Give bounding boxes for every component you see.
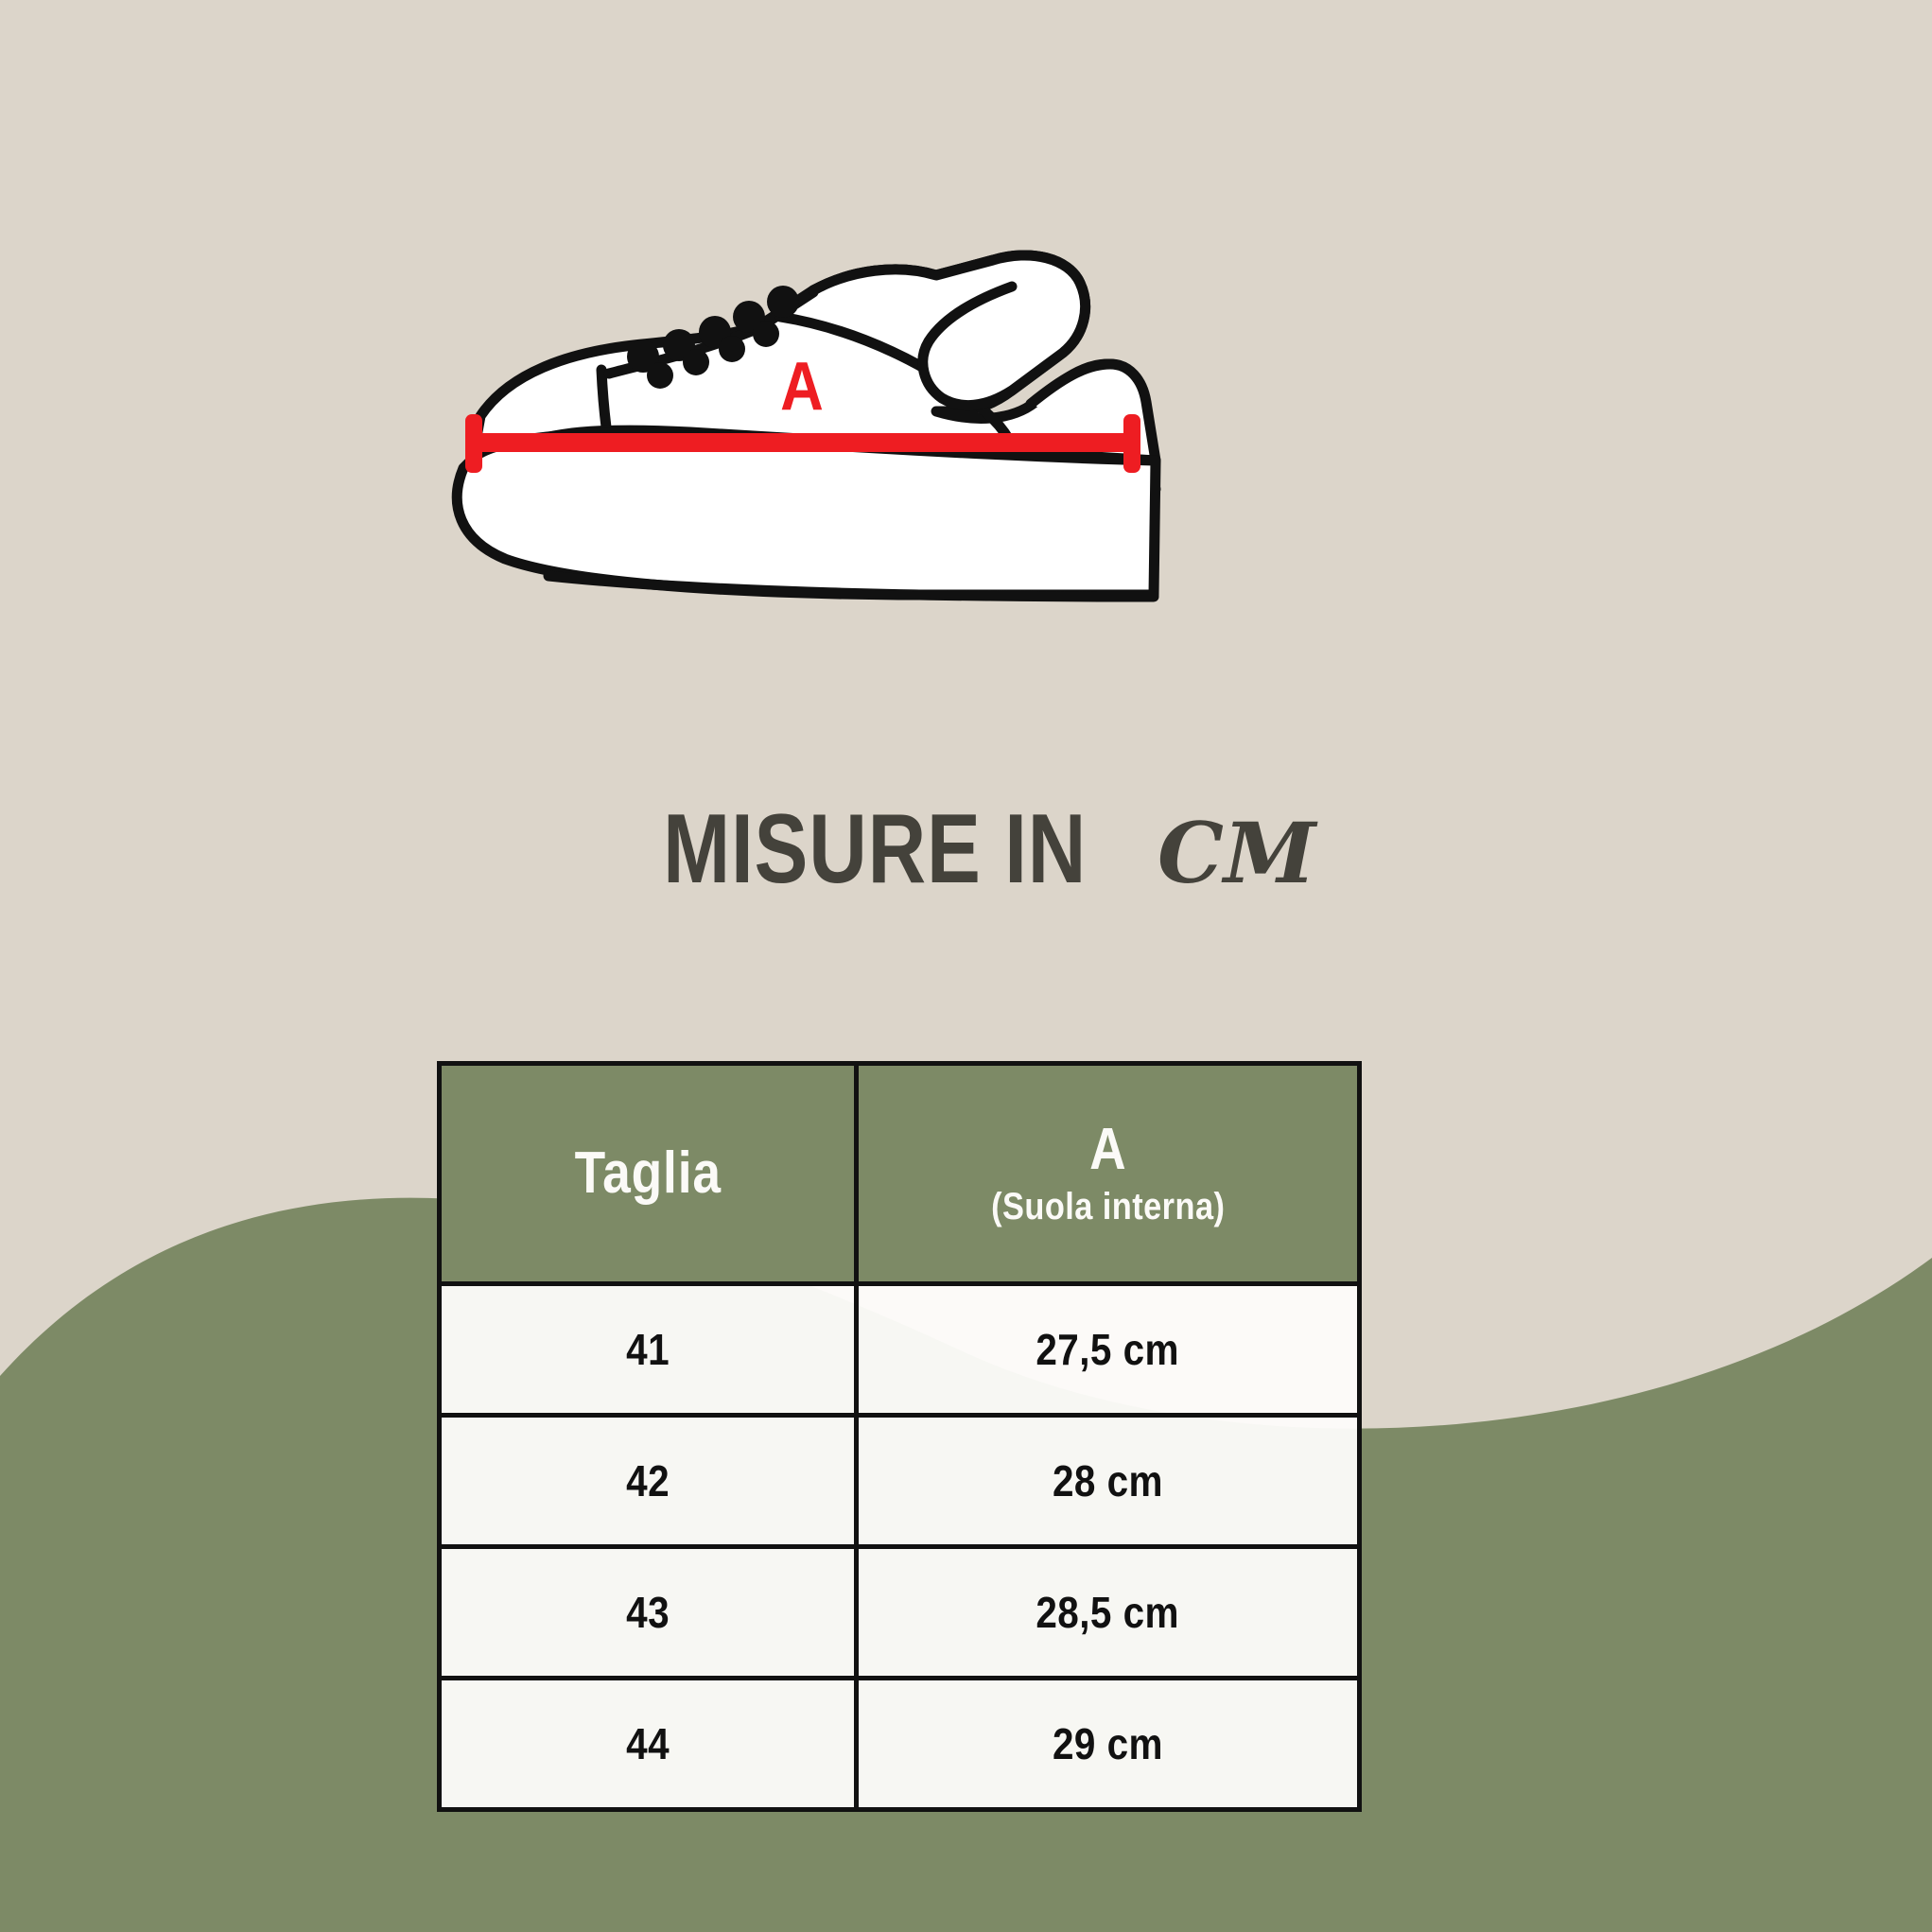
cell-size: 42 [440, 1416, 857, 1547]
cell-measure: 28,5 cm [857, 1547, 1360, 1679]
measure-value: 29 cm [1053, 1718, 1163, 1769]
size-value: 42 [626, 1455, 670, 1506]
sneaker-svg: A [407, 184, 1494, 676]
size-value: 41 [626, 1324, 670, 1375]
size-value: 43 [626, 1587, 670, 1638]
table-row: 42 28 cm [440, 1416, 1360, 1547]
title-unit-script: CM [1157, 811, 1315, 895]
sneaker-illustration: A [407, 184, 1494, 676]
cell-size: 43 [440, 1547, 857, 1679]
size-chart-canvas: A MISURE IN CM Taglia A (Suola interna) [0, 0, 1932, 1932]
page-title: MISURE IN CM [0, 792, 1932, 906]
cell-size: 41 [440, 1284, 857, 1416]
size-chart-table: Taglia A (Suola interna) 41 27,5 cm 42 2… [437, 1061, 1362, 1812]
table-row: 44 29 cm [440, 1679, 1360, 1810]
cell-measure: 27,5 cm [857, 1284, 1360, 1416]
header-size-label: Taglia [574, 1143, 721, 1204]
table-row: 41 27,5 cm [440, 1284, 1360, 1416]
table-row: 43 28,5 cm [440, 1547, 1360, 1679]
cell-measure: 28 cm [857, 1416, 1360, 1547]
cell-measure: 29 cm [857, 1679, 1360, 1810]
outsole [457, 433, 1156, 595]
measure-value: 27,5 cm [1036, 1324, 1180, 1375]
size-value: 44 [626, 1718, 670, 1769]
measure-value: 28 cm [1053, 1455, 1163, 1506]
measure-label-a: A [780, 349, 824, 425]
table-header-row: Taglia A (Suola interna) [440, 1064, 1360, 1284]
header-measure-sublabel: (Suola interna) [991, 1188, 1225, 1227]
cell-size: 44 [440, 1679, 857, 1810]
header-cell-measure: A (Suola interna) [857, 1064, 1360, 1284]
title-main-text: MISURE IN [663, 800, 1087, 898]
header-measure-letter: A [1089, 1120, 1126, 1180]
header-cell-size: Taglia [440, 1064, 857, 1284]
measure-value: 28,5 cm [1036, 1587, 1180, 1638]
